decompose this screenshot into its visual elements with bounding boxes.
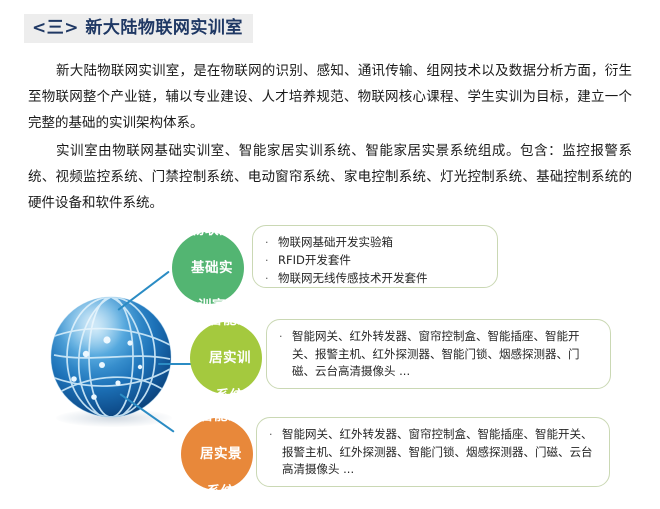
list-item-text: 物联网基础开发实验箱 [278,234,487,251]
document-page: <三> 新大陆物联网实训室 新大陆物联网实训室，是在物联网的识别、感知、通讯传输… [0,0,660,509]
list-item: · 智能网关、红外转发器、窗帘控制盒、智能插座、智能开关、报警主机、红外探测器、… [269,426,599,479]
detail-box-smart-home-live: · 智能网关、红外转发器、窗帘控制盒、智能插座、智能开关、报警主机、红外探测器、… [256,417,610,487]
bullet-icon: · [265,270,278,287]
bullet-icon: · [279,328,292,381]
node-basic-lab[interactable]: 物联网 基础实 训室 [172,232,244,304]
node-smart-home-live[interactable]: 智能家 居实景 系统 [181,418,253,490]
list-item: · 物联网基础开发实验箱 [265,234,487,251]
list-item: · 智能网关、红外转发器、窗帘控制盒、智能插座、智能开关、报警主机、红外探测器、… [279,328,600,381]
list-item-text: 智能网关、红外转发器、窗帘控制盒、智能插座、智能开关、报警主机、红外探测器、智能… [292,328,600,381]
node-smart-home-live-label: 智能家 居实景 系统 [181,407,253,502]
list-item-text: RFID开发套件 [278,252,487,269]
list-item: · 物联网无线传感技术开发套件 [265,270,487,287]
node-basic-lab-label: 物联网 基础实 训室 [172,221,244,316]
detail-box-basic-lab: · 物联网基础开发实验箱 · RFID开发套件 · 物联网无线传感技术开发套件 [252,225,498,288]
connector-line-smart-home-training [158,363,192,365]
bullet-icon: · [265,234,278,251]
architecture-diagram: 物联网 基础实 训室 智能家 居实训 系统 智能家 居实景 系统 · 物联网基础… [0,205,660,509]
bullet-icon: · [269,426,282,479]
list-item-text: 物联网无线传感技术开发套件 [278,270,487,287]
section-heading: <三> 新大陆物联网实训室 [24,14,253,43]
detail-box-smart-home-training: · 智能网关、红外转发器、窗帘控制盒、智能插座、智能开关、报警主机、红外探测器、… [266,319,611,389]
list-item: · RFID开发套件 [265,252,487,269]
node-smart-home-training[interactable]: 智能家 居实训 系统 [190,322,262,394]
bullet-icon: · [265,252,278,269]
section-heading-text: <三> 新大陆物联网实训室 [32,18,243,38]
paragraph-intro: 新大陆物联网实训室，是在物联网的识别、感知、通讯传输、组网技术以及数据分析方面，… [28,58,632,136]
list-item-text: 智能网关、红外转发器、窗帘控制盒、智能插座、智能开关、报警主机、红外探测器、智能… [282,426,599,479]
globe-sphere-icon [44,293,178,427]
node-smart-home-training-label: 智能家 居实训 系统 [190,311,262,406]
